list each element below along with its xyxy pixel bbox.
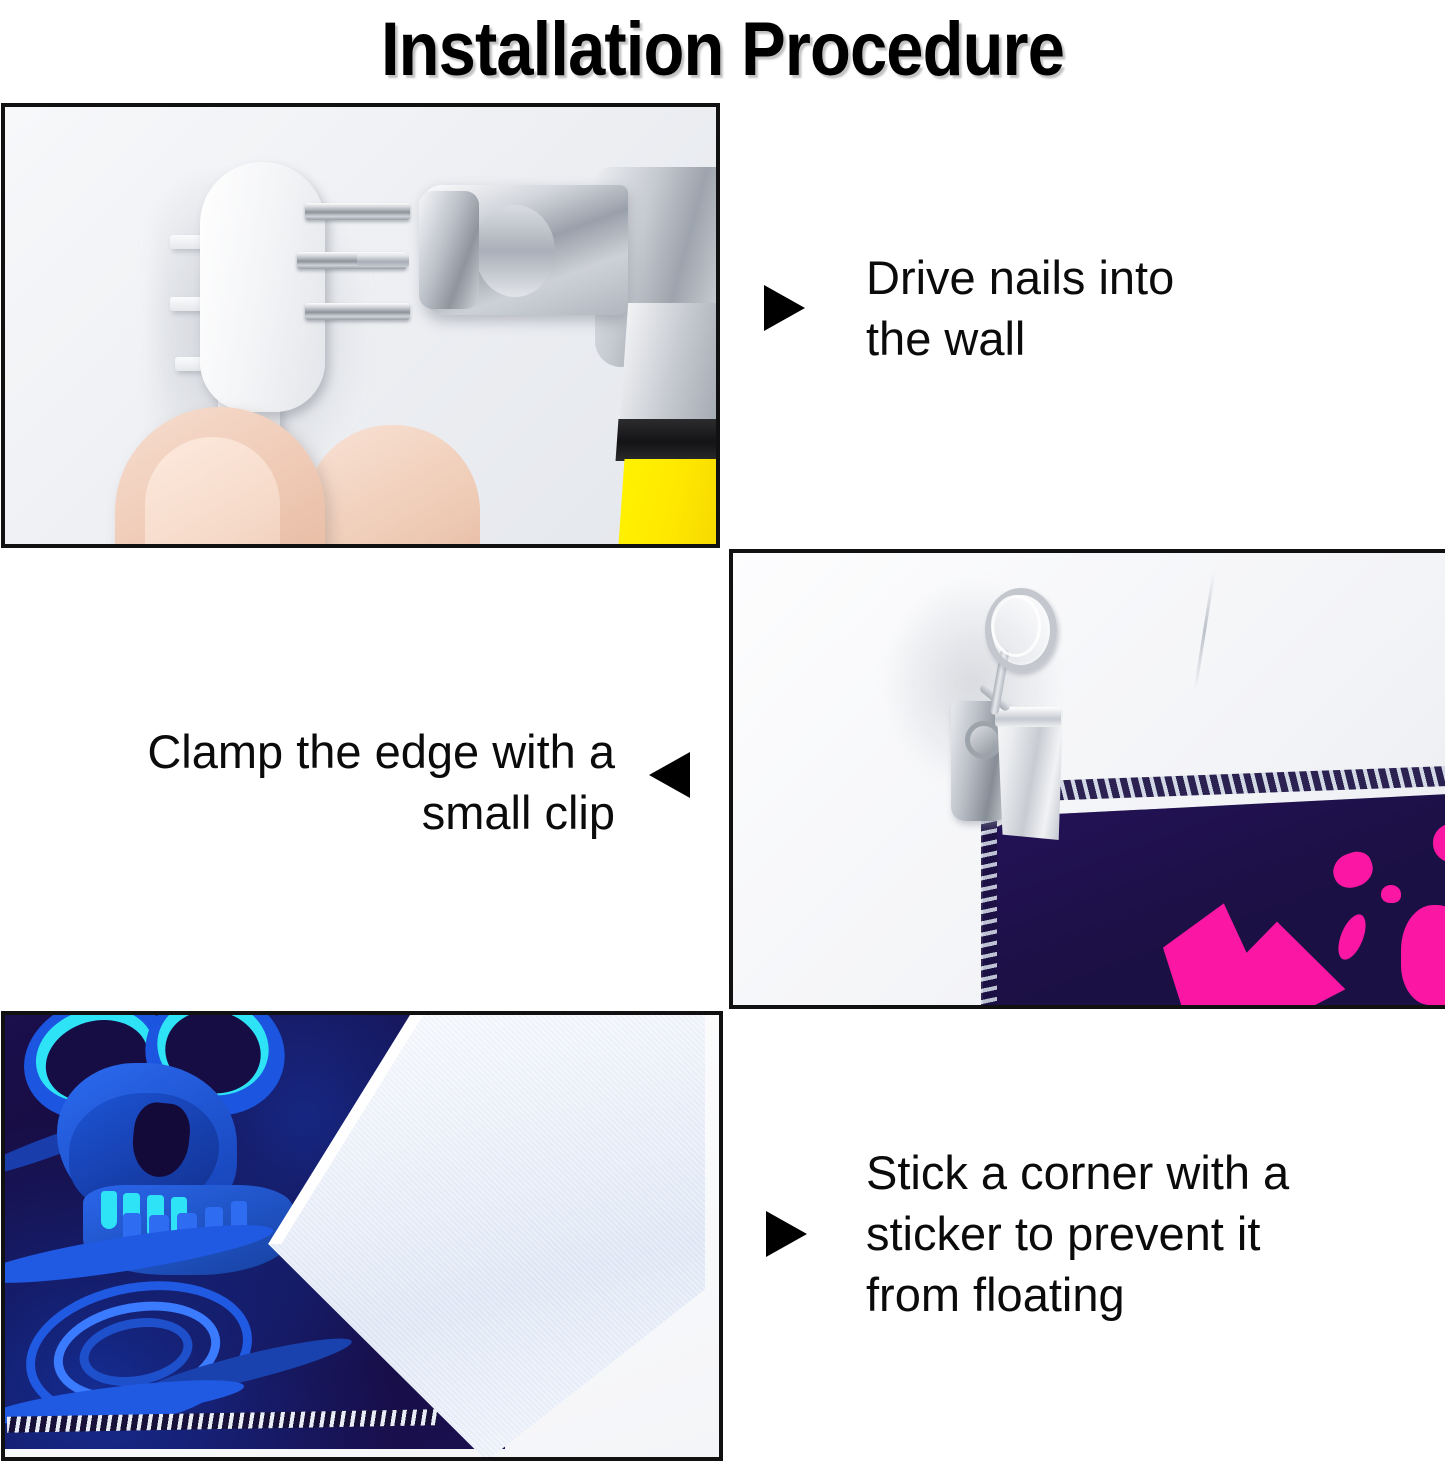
pink-splatter — [1381, 885, 1401, 903]
photo-sticker-corner — [1, 1011, 723, 1461]
photo-clamp-clip — [729, 549, 1445, 1009]
clip-ring-highlight — [991, 595, 1041, 657]
triangle-left-icon — [649, 752, 690, 798]
hammer-handle — [618, 459, 720, 548]
nail — [305, 303, 410, 320]
nail-tip — [357, 254, 409, 267]
page-title: Installation Procedure — [87, 0, 1359, 98]
triangle-right-icon — [766, 1211, 807, 1257]
step-2-label: Clamp the edge with a small clip — [70, 721, 615, 843]
installation-procedure-page: Installation Procedure — [0, 0, 1445, 1454]
step-1-label: Drive nails into the wall — [866, 247, 1226, 369]
step-3-label: Stick a corner with a sticker to prevent… — [866, 1142, 1326, 1325]
triangle-right-icon — [764, 285, 805, 331]
hammer-face — [419, 191, 479, 309]
photo-drive-nails — [1, 103, 720, 548]
overlock-stitching-left — [981, 809, 997, 1005]
skull-tooth — [101, 1191, 117, 1229]
hammer-waist — [475, 205, 555, 297]
hook-plate — [200, 162, 325, 412]
hammer-ferrule — [616, 419, 720, 461]
nail — [305, 203, 410, 220]
